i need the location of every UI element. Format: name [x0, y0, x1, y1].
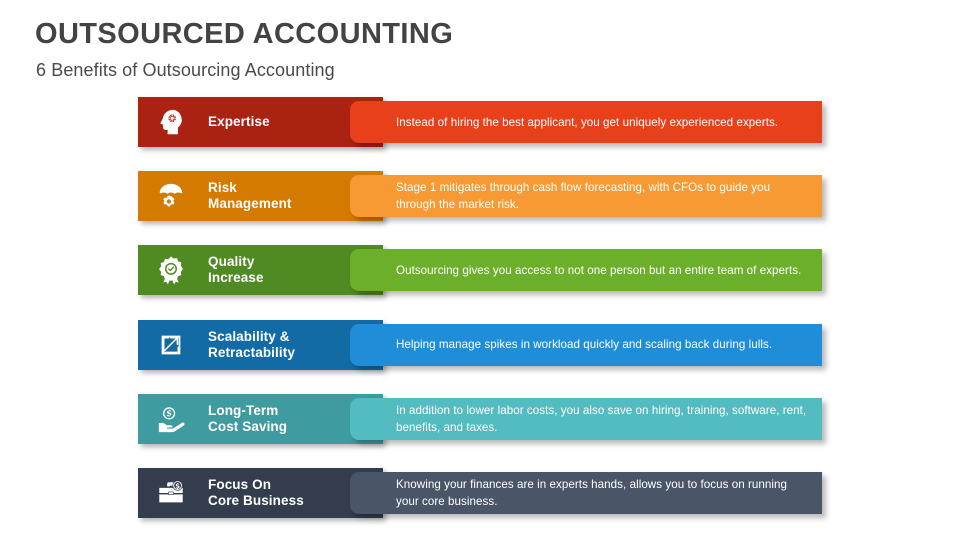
benefit-description-panel[interactable]: Helping manage spikes in workload quickl…: [350, 324, 822, 366]
award-badge-icon: [148, 245, 194, 295]
benefit-title-panel[interactable]: RiskManagement: [138, 171, 383, 221]
benefit-description-panel[interactable]: Instead of hiring the best applicant, yo…: [350, 101, 822, 143]
benefit-title-panel[interactable]: Focus OnCore Business: [138, 468, 383, 518]
benefit-row[interactable]: Instead of hiring the best applicant, yo…: [0, 97, 960, 153]
benefit-title-panel[interactable]: Scalability &Retractability: [138, 320, 383, 370]
benefit-title-panel[interactable]: Expertise: [138, 97, 383, 147]
benefit-row[interactable]: Knowing your finances are in experts han…: [0, 468, 960, 524]
benefit-title-panel[interactable]: QualityIncrease: [138, 245, 383, 295]
benefit-description: Knowing your finances are in experts han…: [350, 476, 822, 510]
benefit-description: Instead of hiring the best applicant, yo…: [350, 114, 792, 131]
benefit-description: Helping manage spikes in workload quickl…: [350, 336, 786, 353]
expand-arrow-icon: [148, 320, 194, 370]
benefit-row[interactable]: Outsourcing gives you access to not one …: [0, 245, 960, 301]
umbrella-gear-icon: [148, 171, 194, 221]
benefit-row[interactable]: Helping manage spikes in workload quickl…: [0, 320, 960, 376]
benefit-description: In addition to lower labor costs, you al…: [350, 402, 822, 436]
benefit-description-panel[interactable]: In addition to lower labor costs, you al…: [350, 398, 822, 440]
benefits-list: Instead of hiring the best applicant, yo…: [0, 0, 960, 540]
head-idea-icon: [148, 97, 194, 147]
benefit-description-panel[interactable]: Stage 1 mitigates through cash flow fore…: [350, 175, 822, 217]
benefit-description-panel[interactable]: Knowing your finances are in experts han…: [350, 472, 822, 514]
hand-coin-icon: [148, 394, 194, 444]
benefit-row[interactable]: Stage 1 mitigates through cash flow fore…: [0, 171, 960, 227]
slide-canvas: OUTSOURCED ACCOUNTING 6 Benefits of Outs…: [0, 0, 960, 540]
benefit-description: Stage 1 mitigates through cash flow fore…: [350, 179, 822, 213]
benefit-description-panel[interactable]: Outsourcing gives you access to not one …: [350, 249, 822, 291]
benefit-row[interactable]: In addition to lower labor costs, you al…: [0, 394, 960, 450]
briefcase-coin-icon: [148, 468, 194, 518]
benefit-description: Outsourcing gives you access to not one …: [350, 262, 815, 279]
benefit-title-panel[interactable]: Long-TermCost Saving: [138, 394, 383, 444]
